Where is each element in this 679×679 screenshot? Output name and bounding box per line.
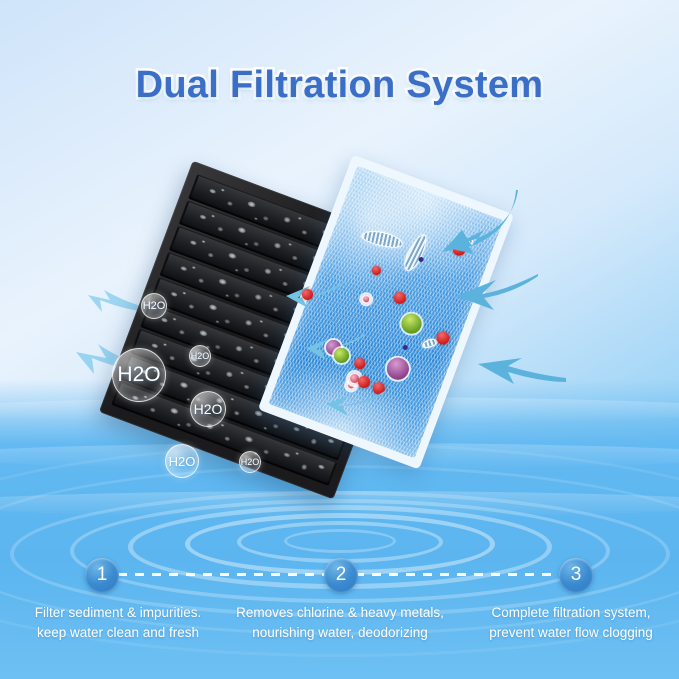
step-badge-2: 2 [324, 558, 358, 592]
step-caption-3: Complete filtration system, prevent wate… [468, 603, 674, 643]
step-caption-line: Removes chlorine & heavy metals, [224, 603, 456, 623]
transfer-arrow-icon [324, 386, 386, 418]
step-connector-dashed-line [355, 573, 560, 576]
inflow-arrow-icon [452, 266, 538, 314]
step-caption-line: Filter sediment & impurities. [8, 603, 228, 623]
h2o-bubble: H2O [189, 345, 211, 367]
inflow-arrow-icon [432, 186, 518, 258]
step-caption-line: Complete filtration system, [468, 603, 674, 623]
product-illustration: H2O H2O H2O H2O H2O H2O [0, 0, 679, 560]
transfer-arrow-icon [284, 276, 346, 310]
infographic-canvas: Dual Filtration System [0, 0, 679, 679]
h2o-bubble: H2O [141, 293, 167, 319]
h2o-bubble: H2O [190, 391, 226, 427]
h2o-bubble: H2O [112, 348, 166, 402]
step-caption-2: Removes chlorine & heavy metals, nourish… [224, 603, 456, 643]
green-algae-icon [334, 348, 349, 363]
step-badge-1: 1 [85, 558, 119, 592]
red-bacteria-icon [358, 376, 370, 388]
step-caption-1: Filter sediment & impurities. keep water… [8, 603, 228, 643]
step-caption-line: prevent water flow clogging [468, 623, 674, 643]
red-bacteria-icon [302, 289, 313, 300]
steps-section: 1 2 3 Filter sediment & impurities. keep… [0, 551, 679, 679]
step-connector-dashed-line [118, 573, 326, 576]
h2o-bubble: H2O [165, 444, 199, 478]
step-caption-line: nourishing water, deodorizing [224, 623, 456, 643]
step-caption-line: keep water clean and fresh [8, 623, 228, 643]
step-badge-3: 3 [559, 558, 593, 592]
h2o-bubble: H2O [239, 451, 261, 473]
inflow-arrow-icon [474, 348, 566, 392]
